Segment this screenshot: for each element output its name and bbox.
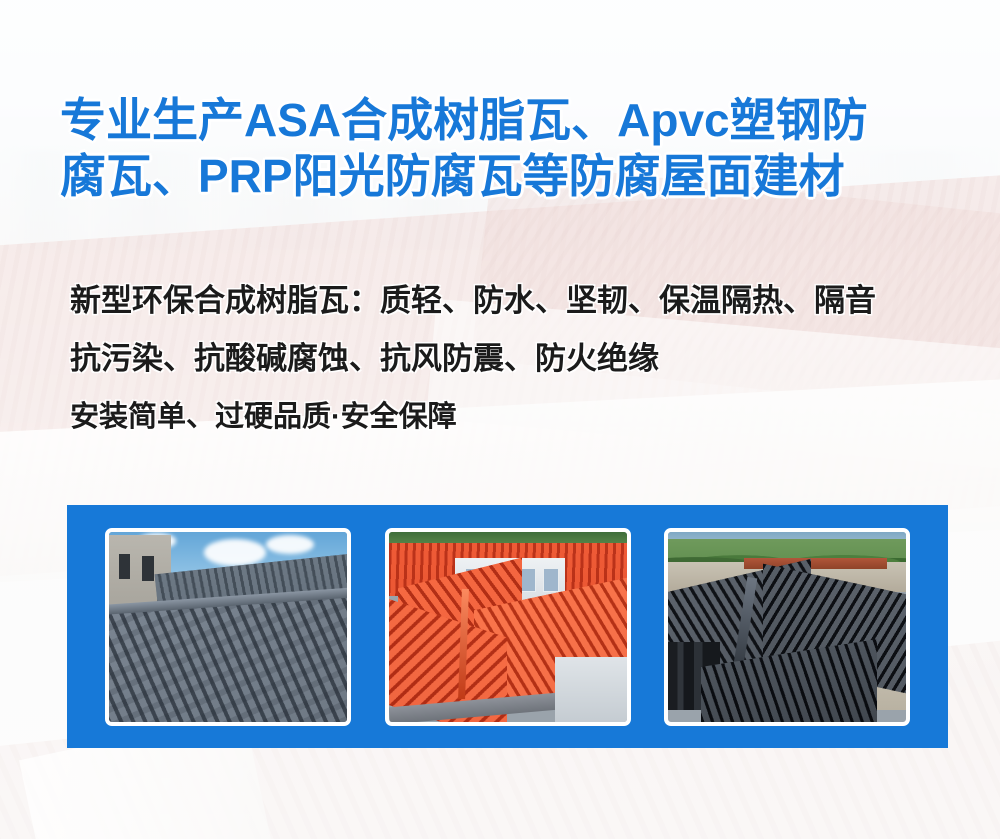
headline: 专业生产ASA合成树脂瓦、Apvc塑钢防 腐瓦、PRP阳光防腐瓦等防腐屋面建材 bbox=[60, 92, 950, 204]
window-shape bbox=[543, 568, 559, 593]
right-building-wall bbox=[555, 657, 626, 722]
product-promo-banner: 专业生产ASA合成树脂瓦、Apvc塑钢防 腐瓦、PRP阳光防腐瓦等防腐屋面建材 … bbox=[0, 0, 1000, 839]
black-resin-tile-roof-photo[interactable] bbox=[664, 528, 910, 726]
headline-line-1: 专业生产ASA合成树脂瓦、Apvc塑钢防 bbox=[60, 92, 950, 148]
black-roof-image bbox=[668, 532, 906, 722]
feature-line-3: 安装简单、过硬品质·安全保障 bbox=[70, 388, 970, 446]
gray-resin-tile-roof-photo[interactable] bbox=[105, 528, 351, 726]
headline-line-2: 腐瓦、PRP阳光防腐瓦等防腐屋面建材 bbox=[60, 148, 950, 204]
red-resin-tile-roof-photo[interactable] bbox=[385, 528, 631, 726]
feature-copy: 新型环保合成树脂瓦：质轻、防水、坚韧、保温隔热、隔音 抗污染、抗酸碱腐蚀、抗风防… bbox=[70, 272, 970, 446]
window-shape bbox=[119, 554, 131, 579]
feature-line-2: 抗污染、抗酸碱腐蚀、抗风防震、防火绝缘 bbox=[70, 330, 970, 388]
red-roof-image bbox=[389, 532, 627, 722]
cloud-shape bbox=[204, 539, 266, 566]
feature-line-1: 新型环保合成树脂瓦：质轻、防水、坚韧、保温隔热、隔音 bbox=[70, 272, 970, 330]
window-shape bbox=[142, 556, 154, 581]
gray-roof-image bbox=[109, 532, 347, 722]
photo-gallery-panel bbox=[67, 505, 948, 748]
